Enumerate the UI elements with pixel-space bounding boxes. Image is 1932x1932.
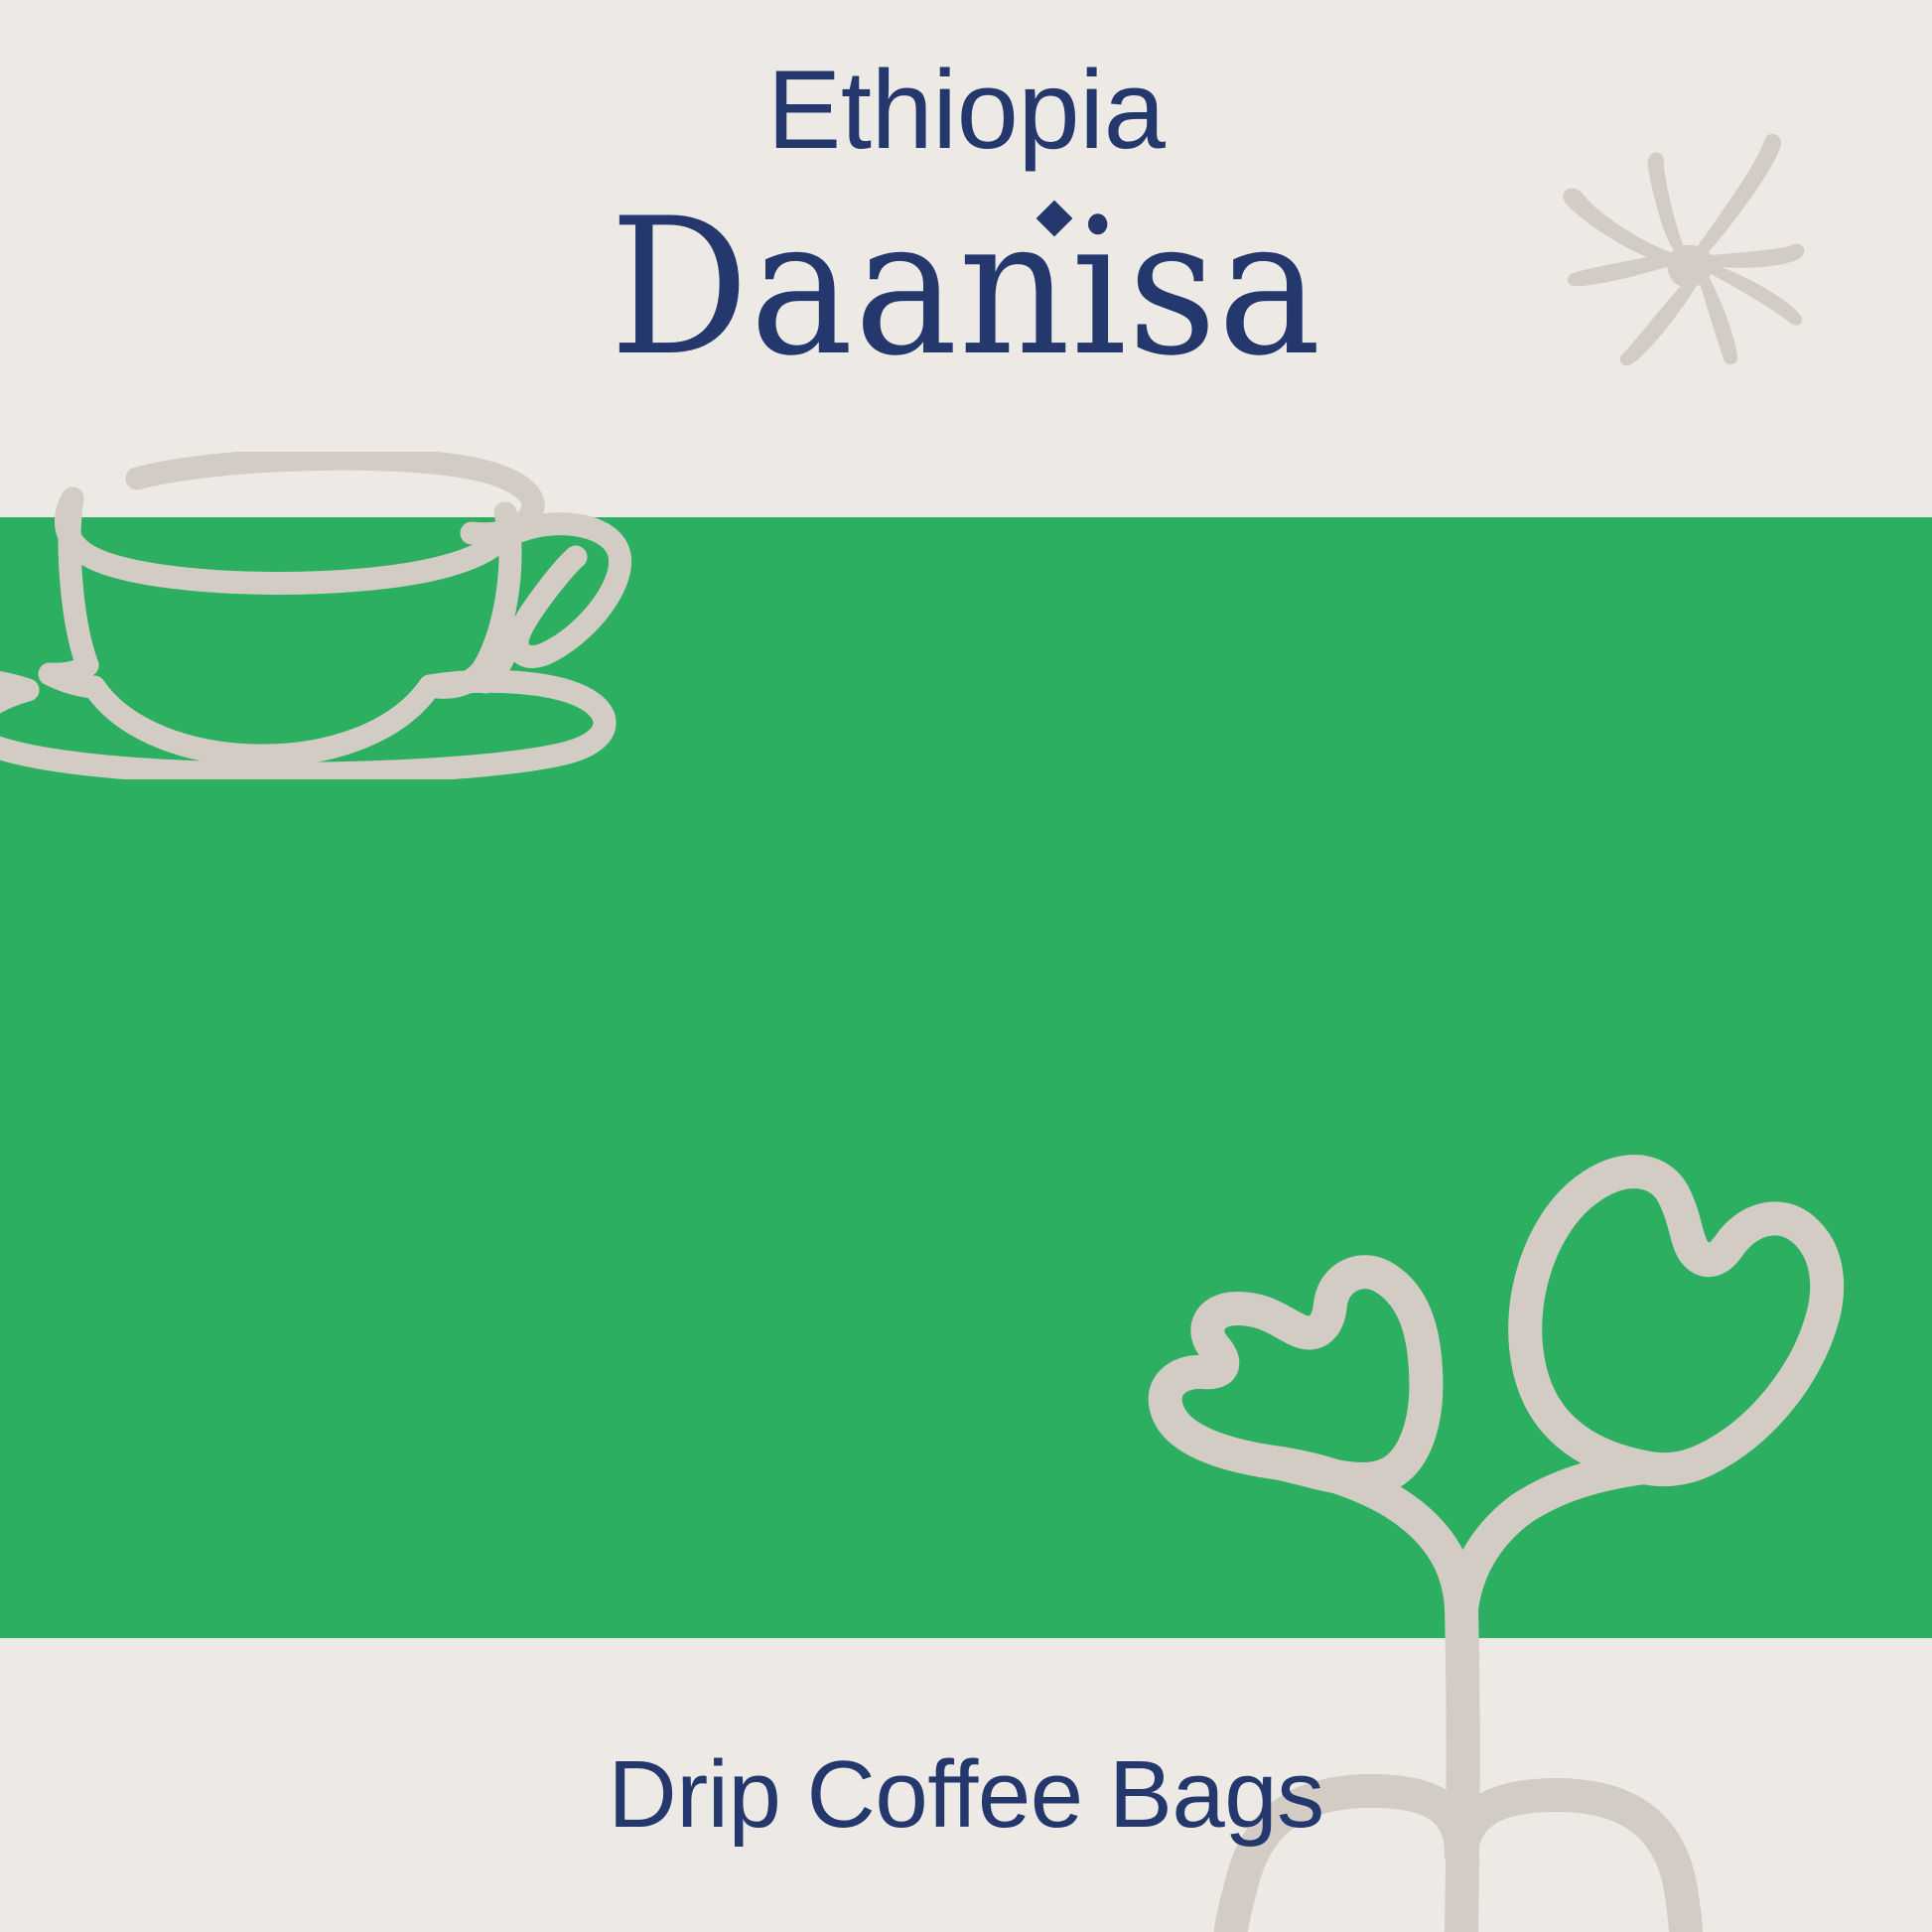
green-center-band (0, 517, 1932, 1638)
coffee-bag-label: Ethiopia Daanisa Drip Coffee Bags (0, 0, 1932, 1932)
origin-country-title: Ethiopia (0, 55, 1932, 166)
coffee-name-text: Daanisa (610, 194, 1321, 382)
coffee-name-title: Daanisa (0, 194, 1932, 382)
product-type-label: Drip Coffee Bags (0, 1747, 1932, 1843)
